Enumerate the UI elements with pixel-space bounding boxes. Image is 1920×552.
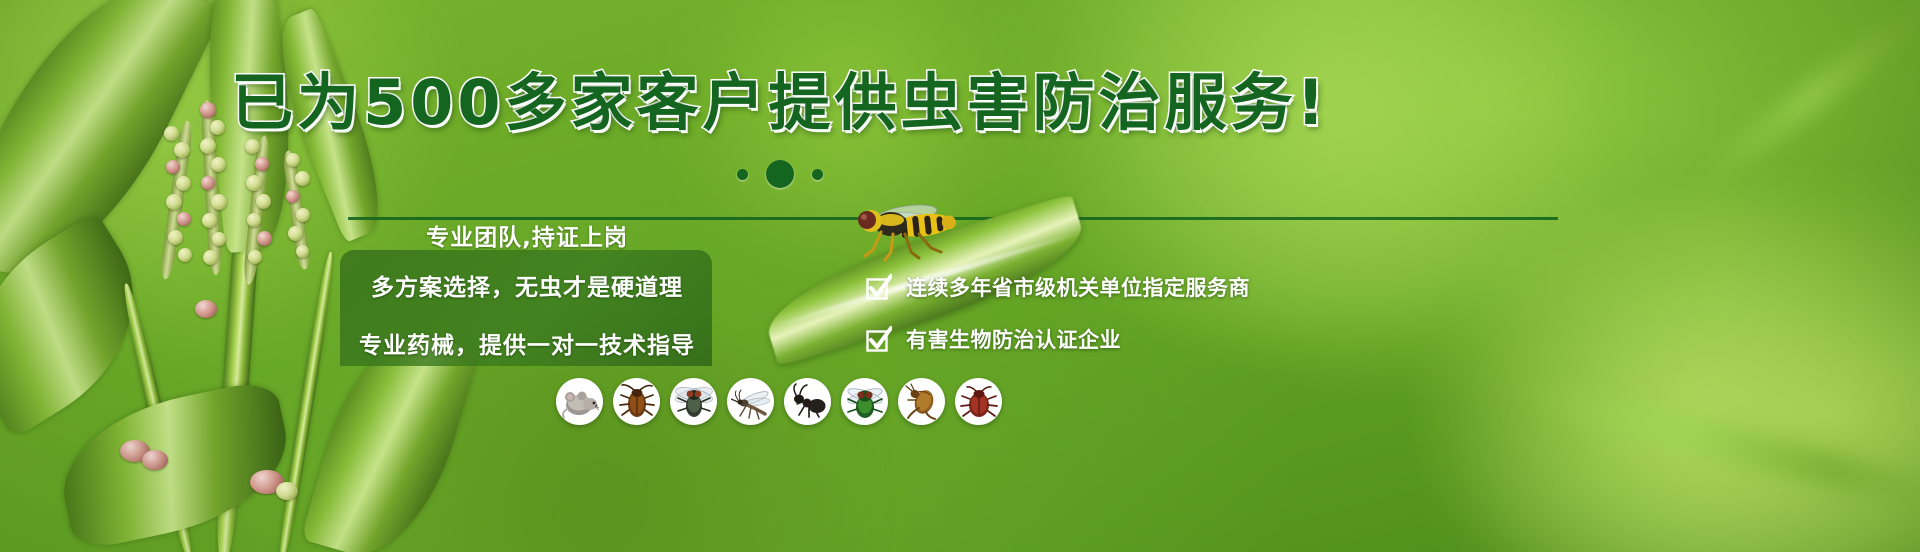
- checkbox-checked-icon: [866, 274, 892, 300]
- decorative-dot-large: [766, 160, 794, 188]
- checklist-label-1: 连续多年省市级机关单位指定服务商: [906, 272, 1250, 302]
- fly-icon[interactable]: [670, 378, 717, 425]
- list-item: 有害生物防治认证企业: [866, 324, 1250, 354]
- mosquito-icon[interactable]: [727, 378, 774, 425]
- banner-headline: 已为500多家客户提供虫害防治服务!: [0, 72, 1560, 134]
- features-panel-text: 专业团队,持证上岗 多方案选择，无虫才是硬道理 专业药械，提供一对一技术指导: [340, 218, 714, 368]
- decorative-dot-small-left: [737, 169, 748, 180]
- pest-icon-row: [556, 378, 1002, 425]
- ant-icon[interactable]: [784, 378, 831, 425]
- certification-checklist: 连续多年省市级机关单位指定服务商 有害生物防治认证企业: [866, 272, 1250, 354]
- cockroach-icon[interactable]: [613, 378, 660, 425]
- list-item: 连续多年省市级机关单位指定服务商: [866, 272, 1250, 302]
- decorative-dot-small-right: [812, 169, 823, 180]
- decorative-dots: [0, 160, 1560, 188]
- bedbug-icon[interactable]: [955, 378, 1002, 425]
- flea-icon[interactable]: [898, 378, 945, 425]
- panel-line-2: 多方案选择，无虫才是硬道理: [371, 268, 683, 302]
- checkbox-checked-icon: [866, 326, 892, 352]
- panel-line-1: 专业团队,持证上岗: [426, 218, 628, 252]
- checklist-label-2: 有害生物防治认证企业: [906, 324, 1121, 354]
- banner-headline-text: 已为500多家客户提供虫害防治服务!: [231, 72, 1329, 134]
- pest-control-banner: 已为500多家客户提供虫害防治服务!: [0, 0, 1920, 552]
- blowfly-icon[interactable]: [841, 378, 888, 425]
- hoverfly-insect-image: [845, 196, 965, 266]
- mouse-icon[interactable]: [556, 378, 603, 425]
- panel-line-3: 专业药械，提供一对一技术指导: [359, 326, 695, 360]
